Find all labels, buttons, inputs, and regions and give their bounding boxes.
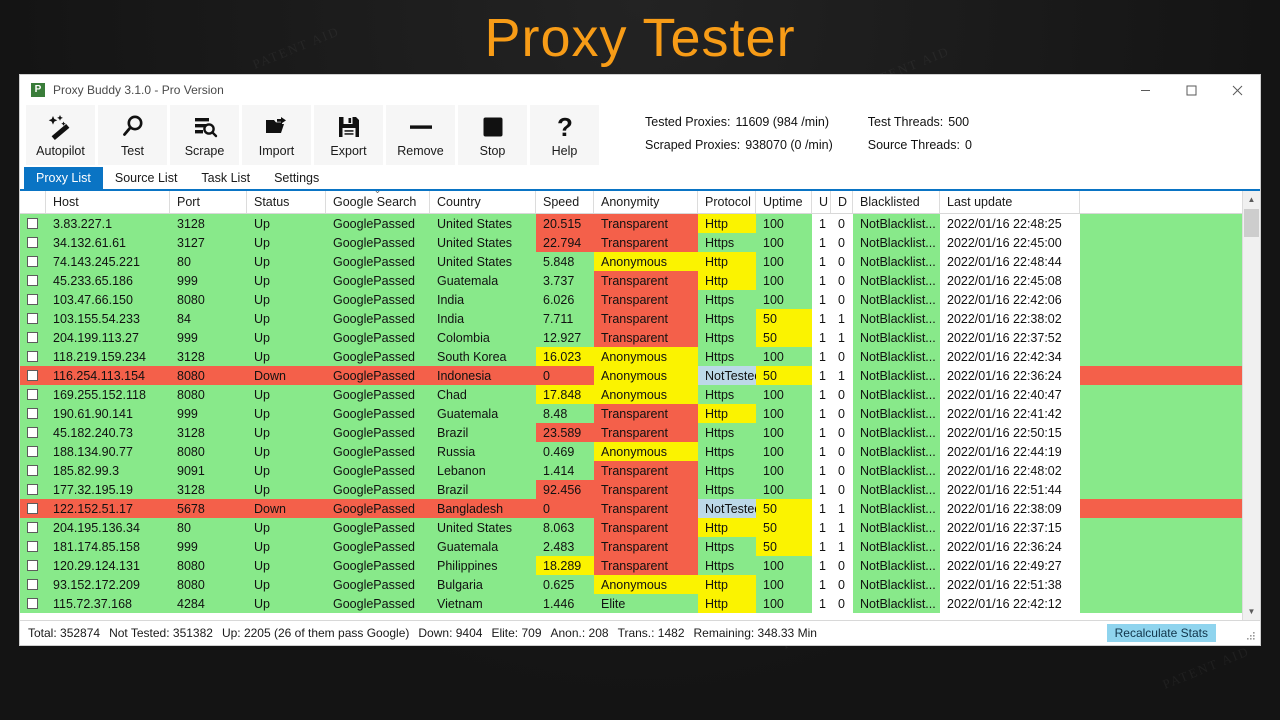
checkbox-icon[interactable]: [27, 256, 38, 267]
column-header-u[interactable]: U: [812, 191, 831, 213]
cell-speed: 12.927: [536, 328, 594, 347]
scrollbar-thumb[interactable]: [1244, 209, 1259, 237]
cell-country: Guatemala: [430, 404, 536, 423]
minimize-icon: [1140, 85, 1151, 96]
cell-anonymity: Anonymous: [594, 575, 698, 594]
cell-d: 1: [831, 499, 853, 518]
vertical-scrollbar[interactable]: ▲ ▼: [1242, 191, 1260, 620]
cell-anonymity: Transparent: [594, 214, 698, 233]
help-button[interactable]: ? Help: [530, 105, 599, 165]
table-row[interactable]: 177.32.195.193128UpGooglePassedBrazil92.…: [20, 480, 1242, 499]
cell-host: 116.254.113.154: [46, 366, 170, 385]
cell-host: 103.47.66.150: [46, 290, 170, 309]
cell-last-update: 2022/01/16 22:42:06: [940, 290, 1080, 309]
cell-u: 1: [812, 518, 831, 537]
cell-protocol: Http: [698, 404, 756, 423]
minimize-button[interactable]: [1122, 75, 1168, 105]
tab-bar: Proxy ListSource ListTask ListSettings: [20, 167, 1260, 191]
column-header-protocol[interactable]: Protocol: [698, 191, 756, 213]
checkbox-icon[interactable]: [27, 560, 38, 571]
cell-u: 1: [812, 423, 831, 442]
test-button[interactable]: Test: [98, 105, 167, 165]
close-button[interactable]: [1214, 75, 1260, 105]
stat-tested-proxies-label: Tested Proxies:: [645, 115, 730, 129]
table-row[interactable]: 116.254.113.1548080DownGooglePassedIndon…: [20, 366, 1242, 385]
cell-status: Up: [247, 423, 326, 442]
export-label: Export: [330, 144, 366, 158]
cell-country: Brazil: [430, 423, 536, 442]
checkbox-icon[interactable]: [27, 275, 38, 286]
cell-protocol: Https: [698, 233, 756, 252]
row-checkbox[interactable]: [20, 537, 46, 556]
grid-body[interactable]: HostPortStatusGoogle Search⌄CountrySpeed…: [20, 191, 1242, 620]
cell-anonymity: Transparent: [594, 328, 698, 347]
cell-country: Guatemala: [430, 537, 536, 556]
cell-speed: 0: [536, 499, 594, 518]
row-checkbox[interactable]: [20, 423, 46, 442]
cell-port: 3128: [170, 214, 247, 233]
scrape-label: Scrape: [185, 144, 225, 158]
table-row[interactable]: 188.134.90.778080UpGooglePassedRussia0.4…: [20, 442, 1242, 461]
cell-status: Up: [247, 537, 326, 556]
checkbox-icon[interactable]: [27, 427, 38, 438]
stat-test-threads: Test Threads:500: [861, 115, 972, 129]
application-window: P Proxy Buddy 3.1.0 - Pro Version: [20, 75, 1260, 645]
checkbox-icon[interactable]: [27, 370, 38, 381]
row-checkbox[interactable]: [20, 556, 46, 575]
cell-blacklisted: NotBlacklist...: [853, 290, 940, 309]
cell-port: 3127: [170, 233, 247, 252]
toolbar: Autopilot Test Scrape: [20, 105, 1260, 167]
import-label: Import: [259, 144, 294, 158]
column-header-anonymity[interactable]: Anonymity: [594, 191, 698, 213]
status-remaining: Remaining: 348.33 Min: [694, 626, 817, 640]
cell-blacklisted: NotBlacklist...: [853, 366, 940, 385]
cell-blacklisted: NotBlacklist...: [853, 575, 940, 594]
status-segments: Total: 352874Not Tested: 351382Up: 2205 …: [28, 626, 826, 640]
maximize-icon: [1186, 85, 1197, 96]
row-checkbox[interactable]: [20, 214, 46, 233]
column-header-label: Status: [254, 195, 289, 209]
cell-status: Up: [247, 518, 326, 537]
cell-blacklisted: NotBlacklist...: [853, 252, 940, 271]
table-row[interactable]: 185.82.99.39091UpGooglePassedLebanon1.41…: [20, 461, 1242, 480]
column-header-select-all[interactable]: [20, 191, 46, 213]
cell-anonymity: Transparent: [594, 309, 698, 328]
table-row[interactable]: 120.29.124.1318080UpGooglePassedPhilippi…: [20, 556, 1242, 575]
checkbox-icon[interactable]: [27, 332, 38, 343]
cell-anonymity: Transparent: [594, 499, 698, 518]
cell-d: 0: [831, 442, 853, 461]
cell-anonymity: Transparent: [594, 404, 698, 423]
cell-protocol: Https: [698, 309, 756, 328]
cell-country: Russia: [430, 442, 536, 461]
stop-button[interactable]: Stop: [458, 105, 527, 165]
cell-uptime: 50: [756, 328, 812, 347]
minus-icon: [407, 111, 435, 143]
cell-u: 1: [812, 366, 831, 385]
checkbox-icon[interactable]: [27, 446, 38, 457]
cell-blacklisted: NotBlacklist...: [853, 404, 940, 423]
cell-u: 1: [812, 328, 831, 347]
checkbox-icon[interactable]: [27, 522, 38, 533]
cell-port: 3128: [170, 480, 247, 499]
checkbox-icon[interactable]: [27, 351, 38, 362]
cell-port: 80: [170, 518, 247, 537]
cell-country: United States: [430, 214, 536, 233]
cell-status: Up: [247, 252, 326, 271]
cell-host: 93.152.172.209: [46, 575, 170, 594]
cell-uptime: 50: [756, 366, 812, 385]
table-row[interactable]: 190.61.90.141999UpGooglePassedGuatemala8…: [20, 404, 1242, 423]
cell-speed: 23.589: [536, 423, 594, 442]
cell-protocol: Https: [698, 556, 756, 575]
column-header-blacklisted[interactable]: Blacklisted: [853, 191, 940, 213]
cell-google-search: GooglePassed: [326, 499, 430, 518]
cell-port: 84: [170, 309, 247, 328]
column-header-label: Uptime: [763, 195, 803, 209]
cell-protocol: NotTested: [698, 366, 756, 385]
cell-port: 999: [170, 404, 247, 423]
checkbox-icon[interactable]: [27, 598, 38, 609]
cell-d: 1: [831, 518, 853, 537]
cell-protocol: Http: [698, 518, 756, 537]
row-checkbox[interactable]: [20, 347, 46, 366]
recalculate-stats-button[interactable]: Recalculate Stats: [1107, 624, 1216, 642]
cell-blacklisted: NotBlacklist...: [853, 461, 940, 480]
table-row[interactable]: 204.195.136.3480UpGooglePassedUnited Sta…: [20, 518, 1242, 537]
cell-last-update: 2022/01/16 22:44:19: [940, 442, 1080, 461]
column-header-label: Google Search: [333, 195, 416, 209]
scrollbar-track[interactable]: [1243, 208, 1260, 603]
cell-u: 1: [812, 309, 831, 328]
checkbox-icon[interactable]: [27, 541, 38, 552]
table-row[interactable]: 45.182.240.733128UpGooglePassedBrazil23.…: [20, 423, 1242, 442]
column-header-last-update[interactable]: Last update: [940, 191, 1080, 213]
cell-last-update: 2022/01/16 22:48:25: [940, 214, 1080, 233]
grid-header-row: HostPortStatusGoogle Search⌄CountrySpeed…: [20, 191, 1242, 214]
row-checkbox[interactable]: [20, 252, 46, 271]
stat-source-threads-label: Source Threads:: [868, 138, 960, 152]
cell-d: 0: [831, 290, 853, 309]
row-checkbox[interactable]: [20, 575, 46, 594]
cell-speed: 2.483: [536, 537, 594, 556]
cell-last-update: 2022/01/16 22:51:38: [940, 575, 1080, 594]
status-label: Trans.:: [618, 626, 658, 640]
row-checkbox[interactable]: [20, 271, 46, 290]
window-title: Proxy Buddy 3.1.0 - Pro Version: [53, 83, 224, 97]
table-row[interactable]: 3.83.227.13128UpGooglePassedUnited State…: [20, 214, 1242, 233]
column-header-label: Blacklisted: [860, 195, 920, 209]
column-header-country[interactable]: Country: [430, 191, 536, 213]
cell-last-update: 2022/01/16 22:38:02: [940, 309, 1080, 328]
cell-country: India: [430, 309, 536, 328]
cell-google-search: GooglePassed: [326, 461, 430, 480]
import-button[interactable]: Import: [242, 105, 311, 165]
cell-country: Indonesia: [430, 366, 536, 385]
test-label: Test: [121, 144, 144, 158]
table-row[interactable]: 45.233.65.186999UpGooglePassedGuatemala3…: [20, 271, 1242, 290]
checkbox-icon[interactable]: [27, 389, 38, 400]
row-checkbox[interactable]: [20, 442, 46, 461]
cell-uptime: 100: [756, 461, 812, 480]
cell-uptime: 100: [756, 442, 812, 461]
cell-host: 45.182.240.73: [46, 423, 170, 442]
column-header-host[interactable]: Host: [46, 191, 170, 213]
table-row[interactable]: 169.255.152.1188080UpGooglePassedChad17.…: [20, 385, 1242, 404]
cell-port: 3128: [170, 423, 247, 442]
cell-host: 181.174.85.158: [46, 537, 170, 556]
cell-u: 1: [812, 385, 831, 404]
cell-country: Chad: [430, 385, 536, 404]
cell-status: Up: [247, 309, 326, 328]
cell-uptime: 100: [756, 290, 812, 309]
cell-status: Down: [247, 366, 326, 385]
status-label: Total:: [28, 626, 60, 640]
row-checkbox[interactable]: [20, 499, 46, 518]
tab-settings[interactable]: Settings: [262, 167, 331, 189]
cell-host: 3.83.227.1: [46, 214, 170, 233]
checkbox-icon[interactable]: [27, 484, 38, 495]
column-header-d[interactable]: D: [831, 191, 853, 213]
status-label: Elite:: [491, 626, 521, 640]
cell-u: 1: [812, 480, 831, 499]
cell-status: Up: [247, 271, 326, 290]
cell-status: Up: [247, 214, 326, 233]
row-checkbox[interactable]: [20, 366, 46, 385]
cell-status: Up: [247, 404, 326, 423]
cell-host: 103.155.54.233: [46, 309, 170, 328]
cell-country: Brazil: [430, 480, 536, 499]
scroll-down-icon[interactable]: ▼: [1243, 603, 1260, 620]
checkbox-icon[interactable]: [27, 218, 38, 229]
column-header-google-search[interactable]: Google Search⌄: [326, 191, 430, 213]
cell-protocol: Https: [698, 328, 756, 347]
title-bar: P Proxy Buddy 3.1.0 - Pro Version: [20, 75, 1260, 105]
table-row[interactable]: 74.143.245.22180UpGooglePassedUnited Sta…: [20, 252, 1242, 271]
cell-google-search: GooglePassed: [326, 328, 430, 347]
cell-port: 8080: [170, 556, 247, 575]
status-bar: Total: 352874Not Tested: 351382Up: 2205 …: [20, 620, 1260, 645]
cell-blacklisted: NotBlacklist...: [853, 328, 940, 347]
cell-last-update: 2022/01/16 22:51:44: [940, 480, 1080, 499]
remove-button[interactable]: Remove: [386, 105, 455, 165]
row-checkbox[interactable]: [20, 518, 46, 537]
cell-anonymity: Transparent: [594, 423, 698, 442]
status-anon: Anon.: 208: [551, 626, 609, 640]
table-row[interactable]: 118.219.159.2343128UpGooglePassedSouth K…: [20, 347, 1242, 366]
cell-anonymity: Transparent: [594, 271, 698, 290]
cell-anonymity: Transparent: [594, 290, 698, 309]
tab-task-list[interactable]: Task List: [189, 167, 262, 189]
grid-rows: 3.83.227.13128UpGooglePassedUnited State…: [20, 214, 1242, 613]
cell-host: 190.61.90.141: [46, 404, 170, 423]
watermark: PATENT AID: [1160, 643, 1252, 693]
cell-country: Bulgaria: [430, 575, 536, 594]
cell-port: 8080: [170, 290, 247, 309]
cell-speed: 16.023: [536, 347, 594, 366]
cell-country: United States: [430, 518, 536, 537]
autopilot-button[interactable]: Autopilot: [26, 105, 95, 165]
cell-d: 0: [831, 252, 853, 271]
cell-port: 3128: [170, 347, 247, 366]
checkbox-icon[interactable]: [27, 465, 38, 476]
maximize-button[interactable]: [1168, 75, 1214, 105]
table-row[interactable]: 115.72.37.1684284UpGooglePassedVietnam1.…: [20, 594, 1242, 613]
cell-port: 999: [170, 537, 247, 556]
cell-blacklisted: NotBlacklist...: [853, 556, 940, 575]
cell-uptime: 100: [756, 404, 812, 423]
cell-speed: 17.848: [536, 385, 594, 404]
cell-country: Philippines: [430, 556, 536, 575]
folder-open-icon: [263, 111, 291, 143]
status-value: 208: [589, 626, 609, 640]
row-checkbox[interactable]: [20, 385, 46, 404]
cell-protocol: Https: [698, 442, 756, 461]
cell-uptime: 100: [756, 271, 812, 290]
row-checkbox[interactable]: [20, 290, 46, 309]
cell-uptime: 100: [756, 252, 812, 271]
cell-status: Up: [247, 575, 326, 594]
cell-uptime: 100: [756, 214, 812, 233]
cell-google-search: GooglePassed: [326, 309, 430, 328]
svg-text:?: ?: [557, 113, 573, 141]
cell-protocol: Https: [698, 385, 756, 404]
column-header-speed[interactable]: Speed: [536, 191, 594, 213]
table-row[interactable]: 204.199.113.27999UpGooglePassedColombia1…: [20, 328, 1242, 347]
cell-google-search: GooglePassed: [326, 233, 430, 252]
cell-google-search: GooglePassed: [326, 442, 430, 461]
cell-country: India: [430, 290, 536, 309]
status-value: 348.33 Min: [758, 626, 817, 640]
cell-speed: 0.625: [536, 575, 594, 594]
cell-host: 185.82.99.3: [46, 461, 170, 480]
list-search-icon: [191, 111, 219, 143]
stat-test-threads-label: Test Threads:: [868, 115, 944, 129]
cell-port: 8080: [170, 385, 247, 404]
cell-anonymity: Transparent: [594, 480, 698, 499]
proxy-list-grid: HostPortStatusGoogle Search⌄CountrySpeed…: [20, 191, 1260, 620]
row-checkbox[interactable]: [20, 328, 46, 347]
close-icon: [1232, 85, 1243, 96]
resize-grip-icon[interactable]: [1244, 631, 1256, 643]
column-header-label: U: [819, 195, 828, 209]
cell-speed: 92.456: [536, 480, 594, 499]
export-button[interactable]: Export: [314, 105, 383, 165]
cell-last-update: 2022/01/16 22:49:27: [940, 556, 1080, 575]
cell-country: Guatemala: [430, 271, 536, 290]
table-row[interactable]: 103.155.54.23384UpGooglePassedIndia7.711…: [20, 309, 1242, 328]
table-row[interactable]: 34.132.61.613127UpGooglePassedUnited Sta…: [20, 233, 1242, 252]
row-checkbox[interactable]: [20, 309, 46, 328]
cell-google-search: GooglePassed: [326, 347, 430, 366]
status-total: Total: 352874: [28, 626, 100, 640]
cell-google-search: GooglePassed: [326, 537, 430, 556]
tab-source-list[interactable]: Source List: [103, 167, 190, 189]
column-header-label: Speed: [543, 195, 579, 209]
cell-u: 1: [812, 556, 831, 575]
checkbox-icon[interactable]: [27, 408, 38, 419]
cell-anonymity: Transparent: [594, 518, 698, 537]
column-header-status[interactable]: Status: [247, 191, 326, 213]
cell-last-update: 2022/01/16 22:48:44: [940, 252, 1080, 271]
cell-u: 1: [812, 404, 831, 423]
cell-uptime: 50: [756, 537, 812, 556]
cell-anonymity: Elite: [594, 594, 698, 613]
cell-d: 1: [831, 328, 853, 347]
row-checkbox[interactable]: [20, 480, 46, 499]
checkbox-icon[interactable]: [27, 313, 38, 324]
checkbox-icon[interactable]: [27, 579, 38, 590]
cell-speed: 0.469: [536, 442, 594, 461]
cell-uptime: 100: [756, 233, 812, 252]
remove-label: Remove: [397, 144, 444, 158]
cell-speed: 7.711: [536, 309, 594, 328]
table-row[interactable]: 122.152.51.175678DownGooglePassedBanglad…: [20, 499, 1242, 518]
cell-status: Up: [247, 594, 326, 613]
magnifier-icon: [119, 111, 147, 143]
checkbox-icon[interactable]: [27, 237, 38, 248]
row-checkbox[interactable]: [20, 404, 46, 423]
checkbox-icon[interactable]: [27, 503, 38, 514]
cell-last-update: 2022/01/16 22:45:08: [940, 271, 1080, 290]
status-down: Down: 9404: [418, 626, 482, 640]
stat-tested-proxies-value: 11609 (984 /min): [735, 115, 829, 129]
status-value: 351382: [173, 626, 213, 640]
cell-u: 1: [812, 271, 831, 290]
cell-google-search: GooglePassed: [326, 252, 430, 271]
cell-blacklisted: NotBlacklist...: [853, 518, 940, 537]
cell-u: 1: [812, 233, 831, 252]
cell-speed: 0: [536, 366, 594, 385]
row-checkbox[interactable]: [20, 461, 46, 480]
cell-google-search: GooglePassed: [326, 480, 430, 499]
cell-last-update: 2022/01/16 22:40:47: [940, 385, 1080, 404]
row-checkbox[interactable]: [20, 594, 46, 613]
status-elite: Elite: 709: [491, 626, 541, 640]
column-header-label: D: [838, 195, 847, 209]
scrape-button[interactable]: Scrape: [170, 105, 239, 165]
cell-status: Up: [247, 385, 326, 404]
cell-d: 0: [831, 423, 853, 442]
cell-uptime: 100: [756, 480, 812, 499]
table-row[interactable]: 181.174.85.158999UpGooglePassedGuatemala…: [20, 537, 1242, 556]
tab-proxy-list[interactable]: Proxy List: [24, 167, 103, 189]
cell-blacklisted: NotBlacklist...: [853, 442, 940, 461]
cell-host: 34.132.61.61: [46, 233, 170, 252]
cell-d: 0: [831, 404, 853, 423]
cell-last-update: 2022/01/16 22:50:15: [940, 423, 1080, 442]
column-header-label: Country: [437, 195, 481, 209]
cell-google-search: GooglePassed: [326, 423, 430, 442]
scroll-up-icon[interactable]: ▲: [1243, 191, 1260, 208]
cell-d: 0: [831, 385, 853, 404]
cell-host: 74.143.245.221: [46, 252, 170, 271]
cell-last-update: 2022/01/16 22:42:34: [940, 347, 1080, 366]
cell-uptime: 100: [756, 594, 812, 613]
cell-google-search: GooglePassed: [326, 556, 430, 575]
row-checkbox[interactable]: [20, 233, 46, 252]
cell-status: Up: [247, 233, 326, 252]
table-row[interactable]: 93.152.172.2098080UpGooglePassedBulgaria…: [20, 575, 1242, 594]
stat-test-threads-value: 500: [948, 115, 969, 129]
column-header-uptime[interactable]: Uptime: [756, 191, 812, 213]
table-row[interactable]: 103.47.66.1508080UpGooglePassedIndia6.02…: [20, 290, 1242, 309]
column-header-port[interactable]: Port: [170, 191, 247, 213]
cell-google-search: GooglePassed: [326, 290, 430, 309]
cell-host: 115.72.37.168: [46, 594, 170, 613]
checkbox-icon[interactable]: [27, 294, 38, 305]
